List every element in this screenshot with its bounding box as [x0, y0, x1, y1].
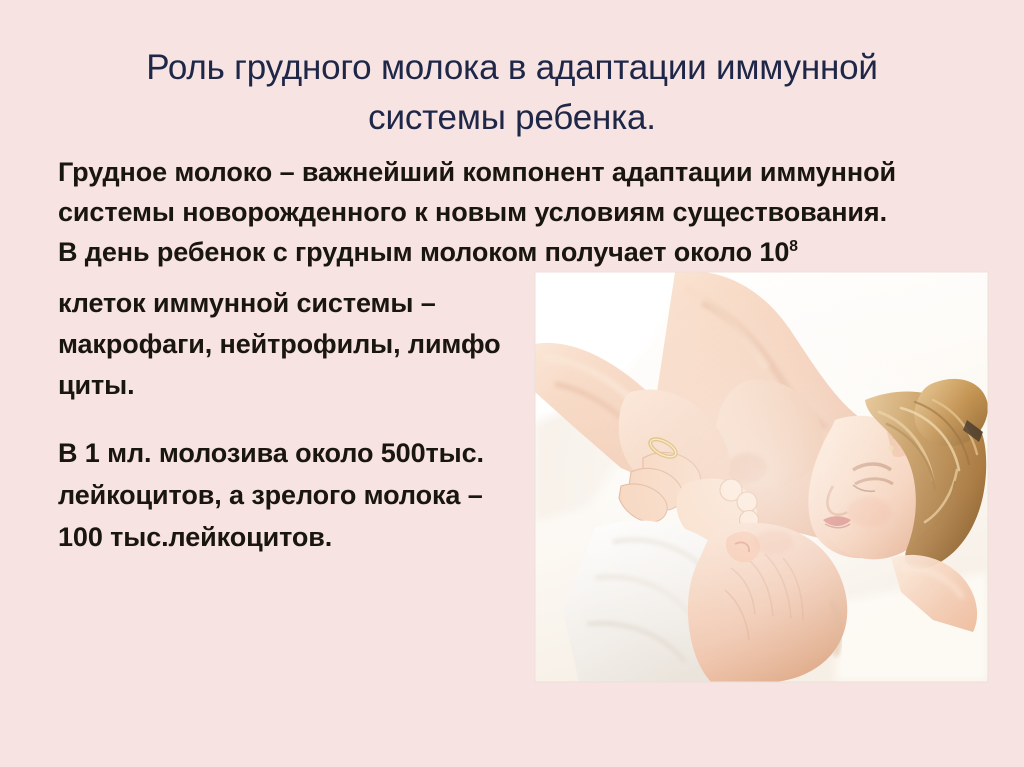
paragraph-colostrum-line-2: лейкоцитов, а зрелого молока –	[58, 474, 484, 516]
paragraph-intro-line-2: системы новорожденного к новым условиям …	[58, 192, 896, 232]
slide-canvas: Роль грудного молока в адаптации иммунно…	[0, 0, 1024, 767]
paragraph-intro-line-3-text: В день ребенок с грудным молоком получае…	[58, 237, 789, 267]
exponent-superscript: 8	[789, 238, 798, 255]
page-title: Роль грудного молока в адаптации иммунно…	[70, 43, 954, 142]
paragraph-cells: клеток иммунной системы – макрофаги, ней…	[58, 283, 501, 406]
paragraph-intro: Грудное молоко – важнейший компонент ада…	[58, 152, 896, 272]
paragraph-intro-line-3: В день ребенок с грудным молоком получае…	[58, 232, 896, 272]
paragraph-intro-line-1: Грудное молоко – важнейший компонент ада…	[58, 152, 896, 192]
paragraph-cells-line-1: клеток иммунной системы –	[58, 283, 501, 324]
paragraph-colostrum-line-1: В 1 мл. молозива около 500тыс.	[58, 432, 484, 474]
paragraph-colostrum-line-3: 100 тыс.лейкоцитов.	[58, 516, 484, 558]
breastfeeding-photo	[535, 272, 988, 682]
page-title-line-1: Роль грудного молока в адаптации иммунно…	[70, 43, 954, 93]
paragraph-cells-line-2: макрофаги, нейтрофилы, лимфо	[58, 324, 501, 365]
paragraph-cells-line-3: циты.	[58, 365, 501, 406]
breastfeeding-photo-illustration	[535, 272, 988, 682]
photo-highlight-overlay	[535, 272, 988, 682]
paragraph-colostrum: В 1 мл. молозива около 500тыс. лейкоцито…	[58, 432, 484, 558]
page-title-line-2: системы ребенка.	[70, 93, 954, 143]
